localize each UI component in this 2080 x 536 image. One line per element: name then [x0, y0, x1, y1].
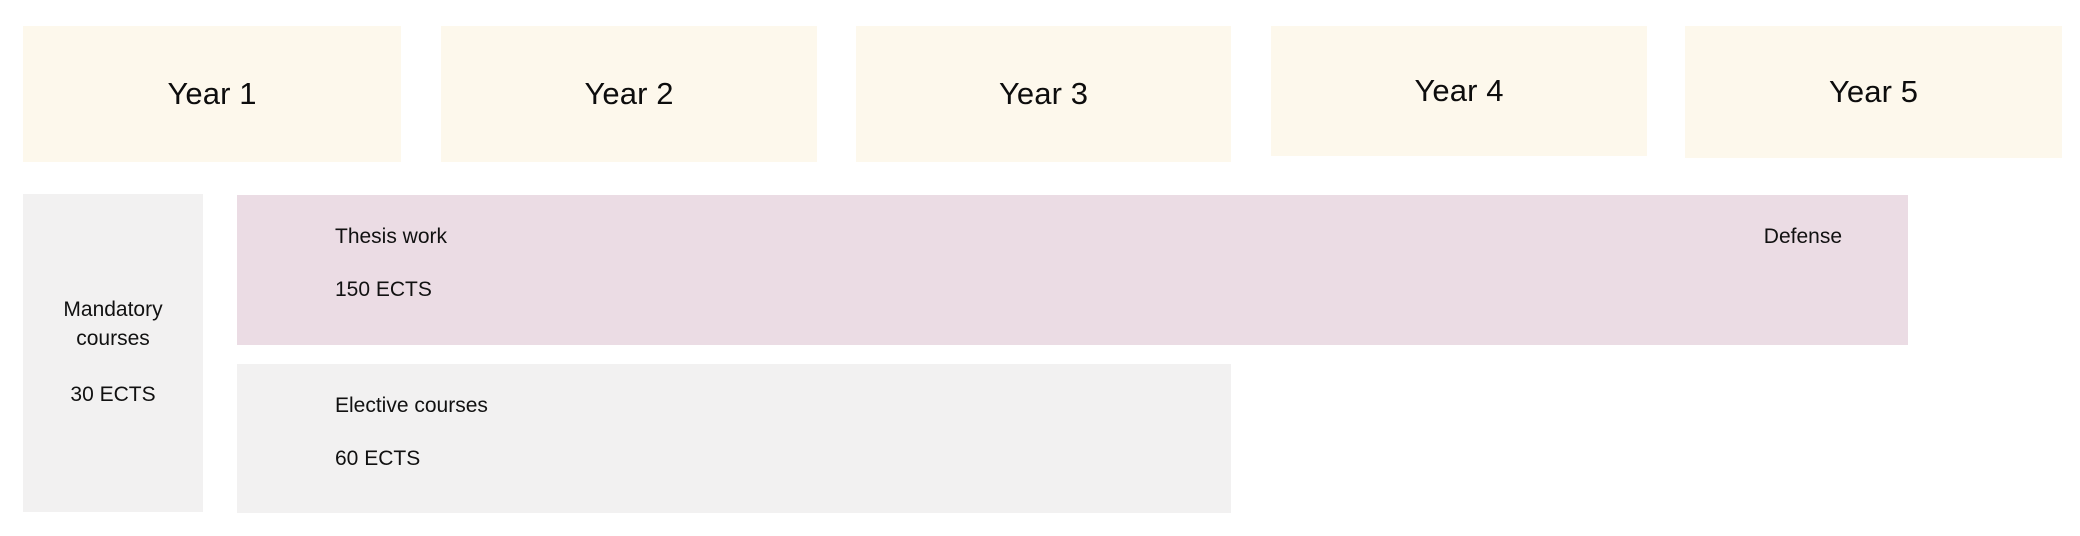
mandatory-courses-title-line-1: Mandatory — [63, 298, 162, 321]
year-box-2: Year 2 — [441, 26, 817, 162]
thesis-work-credits: 150 ECTS — [335, 276, 447, 303]
elective-courses-box: Elective courses 60 ECTS — [237, 364, 1231, 513]
year-label-1: Year 1 — [167, 77, 256, 111]
elective-courses-credits: 60 ECTS — [335, 445, 488, 472]
defense-milestone-label: Defense — [1764, 223, 1842, 250]
thesis-work-title: Thesis work — [335, 223, 447, 250]
year-box-1: Year 1 — [23, 26, 401, 162]
mandatory-courses-title: Mandatory courses — [63, 296, 162, 354]
year-label-5: Year 5 — [1829, 75, 1918, 109]
elective-courses-title: Elective courses — [335, 392, 488, 419]
year-label-2: Year 2 — [584, 77, 673, 111]
elective-courses-text-group: Elective courses 60 ECTS — [335, 392, 488, 473]
year-label-3: Year 3 — [999, 77, 1088, 111]
mandatory-courses-box: Mandatory courses 30 ECTS — [23, 194, 203, 512]
thesis-work-text-group: Thesis work 150 ECTS — [335, 223, 447, 304]
thesis-work-box: Thesis work 150 ECTS Defense — [237, 195, 1908, 345]
mandatory-courses-credits: 30 ECTS — [70, 381, 155, 410]
mandatory-courses-title-line-2: courses — [76, 327, 150, 350]
year-box-4: Year 4 — [1271, 26, 1647, 156]
programme-structure-diagram: Year 1 Year 2 Year 3 Year 4 Year 5 Manda… — [0, 0, 2080, 536]
year-label-4: Year 4 — [1414, 74, 1503, 108]
year-box-5: Year 5 — [1685, 26, 2062, 158]
year-box-3: Year 3 — [856, 26, 1231, 162]
